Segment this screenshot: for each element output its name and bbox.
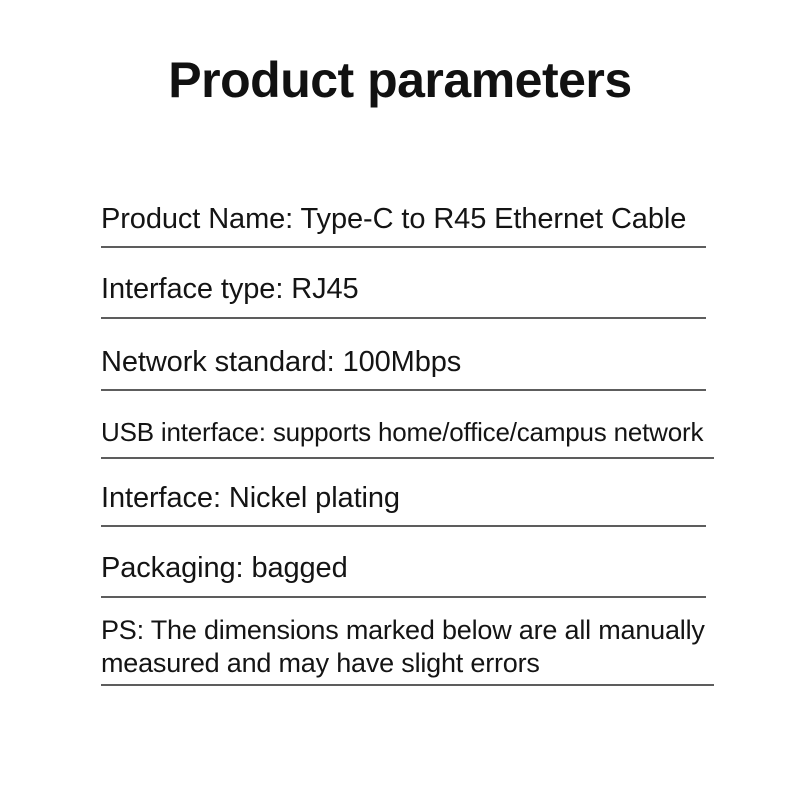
spec-row-interface-type: Interface type: RJ45	[101, 270, 716, 318]
spec-text-interface-type: Interface type: RJ45	[101, 270, 716, 314]
spec-text-note: PS: The dimensions marked below are all …	[101, 614, 716, 682]
spec-row-interface-plating: Interface: Nickel plating	[101, 479, 716, 527]
spec-row-usb-interface: USB interface: supports home/office/camp…	[101, 415, 716, 459]
spec-divider	[101, 525, 706, 527]
spec-text-product-name: Product Name: Type-C to R45 Ethernet Cab…	[101, 200, 716, 244]
spec-divider	[101, 596, 706, 598]
spec-row-note: PS: The dimensions marked below are all …	[101, 614, 716, 686]
spec-list: Product Name: Type-C to R45 Ethernet Cab…	[101, 200, 716, 686]
spec-row-product-name: Product Name: Type-C to R45 Ethernet Cab…	[101, 200, 716, 248]
spec-text-usb-interface: USB interface: supports home/office/camp…	[101, 415, 716, 455]
product-parameters-sheet: Product parameters Product Name: Type-C …	[0, 0, 800, 800]
spec-text-network-standard: Network standard: 100Mbps	[101, 343, 716, 387]
spec-text-interface-plating: Interface: Nickel plating	[101, 479, 716, 523]
spec-row-packaging: Packaging: bagged	[101, 549, 716, 597]
spec-divider	[101, 457, 714, 459]
spec-divider	[101, 389, 706, 391]
spec-divider	[101, 246, 706, 248]
page-title: Product parameters	[0, 52, 800, 110]
spec-divider	[101, 317, 706, 319]
spec-divider	[101, 684, 714, 686]
spec-row-network-standard: Network standard: 100Mbps	[101, 343, 716, 391]
spec-text-packaging: Packaging: bagged	[101, 549, 716, 593]
